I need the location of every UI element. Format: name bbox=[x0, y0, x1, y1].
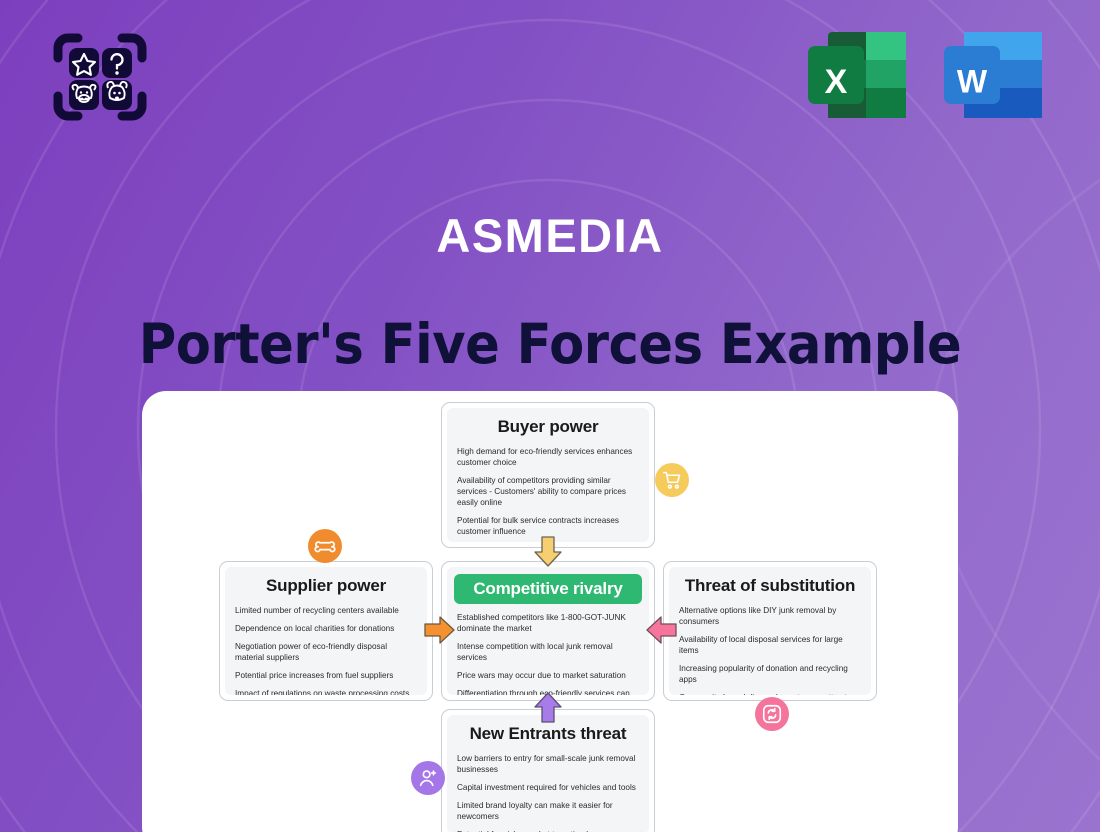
force-item: Limited brand loyalty can make it easier… bbox=[457, 800, 639, 822]
brand-logo bbox=[48, 28, 152, 126]
refresh-icon[interactable] bbox=[755, 697, 789, 731]
force-item: Intense competition with local junk remo… bbox=[457, 641, 639, 663]
force-item: Increasing popularity of donation and re… bbox=[679, 663, 861, 685]
force-item: Capital investment required for vehicles… bbox=[457, 782, 639, 793]
add-user-icon[interactable] bbox=[411, 761, 445, 795]
force-item: Negotiation power of eco-friendly dispos… bbox=[235, 641, 417, 663]
format-icons: X W bbox=[806, 26, 1044, 124]
force-item: Limited number of recycling centers avai… bbox=[235, 605, 417, 616]
arrow-right-supplier-to-rivalry bbox=[424, 615, 456, 650]
force-box-competitive-rivalry[interactable]: Competitive rivalry Established competit… bbox=[441, 561, 655, 701]
force-item: Potential for bulk service contracts inc… bbox=[457, 515, 639, 537]
force-item: Impact of regulations on waste processin… bbox=[235, 688, 417, 695]
force-item: Established competitors like 1-800-GOT-J… bbox=[457, 612, 639, 634]
shopping-cart-icon[interactable] bbox=[655, 463, 689, 497]
force-box-buyer-power[interactable]: Buyer power High demand for eco-friendly… bbox=[441, 402, 655, 548]
force-item: Low barriers to entry for small-scale ju… bbox=[457, 753, 639, 775]
arrow-left-substitution-to-rivalry bbox=[645, 615, 677, 650]
force-item: Availability of competitors providing si… bbox=[457, 475, 639, 508]
bone-icon[interactable] bbox=[308, 529, 342, 563]
force-box-threat-of-substitution[interactable]: Threat of substitution Alternative optio… bbox=[663, 561, 877, 701]
brand-name: ASMEDIA bbox=[0, 208, 1100, 263]
force-item: Potential price increases from fuel supp… bbox=[235, 670, 417, 681]
force-item: Community-based disposal events may attr… bbox=[679, 692, 861, 695]
force-item: High demand for eco-friendly services en… bbox=[457, 446, 639, 468]
force-item: Alternative options like DIY junk remova… bbox=[679, 605, 861, 627]
arrow-down-buyer-to-rivalry bbox=[533, 536, 563, 573]
force-item: Availability of local disposal services … bbox=[679, 634, 861, 656]
arrow-up-entrants-to-rivalry bbox=[533, 691, 563, 728]
force-title: Supplier power bbox=[235, 576, 417, 596]
page-title: Porter's Five Forces Example bbox=[39, 312, 1062, 376]
force-title: Competitive rivalry bbox=[454, 574, 642, 604]
svg-text:X: X bbox=[825, 63, 848, 101]
svg-text:W: W bbox=[957, 63, 988, 99]
force-title: Buyer power bbox=[457, 417, 639, 437]
force-title: Threat of substitution bbox=[679, 576, 861, 596]
slide-canvas: X W ASMEDIA Porter's Five Forces Example… bbox=[0, 0, 1100, 832]
force-item: Dependence on local charities for donati… bbox=[235, 623, 417, 634]
force-box-supplier-power[interactable]: Supplier power Limited number of recycli… bbox=[219, 561, 433, 701]
word-icon[interactable]: W bbox=[942, 26, 1044, 124]
force-item: Price wars may occur due to market satur… bbox=[457, 670, 639, 681]
excel-icon[interactable]: X bbox=[806, 26, 908, 124]
